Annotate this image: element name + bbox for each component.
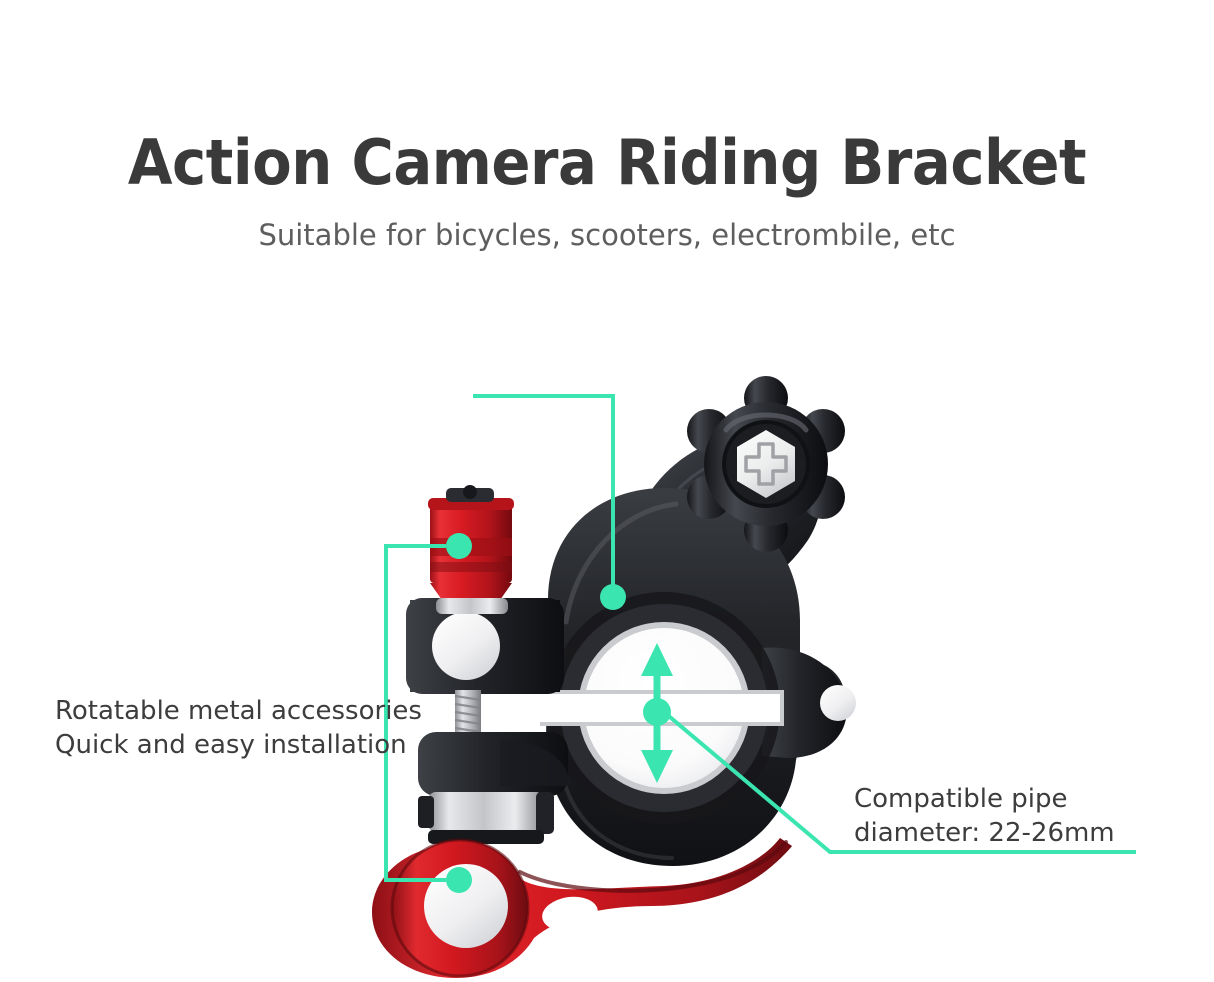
lever-pivot-disc xyxy=(424,864,508,948)
screw-shaft xyxy=(455,690,481,736)
callout-rotatable-line2: Quick and easy installation xyxy=(55,728,422,762)
quick-release-lever xyxy=(372,838,792,978)
callout-rotatable-line1: Rotatable metal accessories xyxy=(55,694,422,728)
red-knob xyxy=(428,485,514,614)
silver-disc xyxy=(432,612,500,680)
page-title: Action Camera Riding Bracket xyxy=(42,126,1171,199)
clamp-pivot-pin xyxy=(820,685,856,721)
callout-pipe-line2: diameter: 22-26mm xyxy=(854,816,1115,850)
callout-pipe-line1: Compatible pipe xyxy=(854,782,1115,816)
metal-ring xyxy=(418,792,554,844)
infographic-page: Action Camera Riding Bracket Suitable fo… xyxy=(0,0,1214,982)
callout-compatible-pipe-diameter: Compatible pipe diameter: 22-26mm xyxy=(854,782,1115,850)
callout-rotatable-metal-accessories: Rotatable metal accessories Quick and ea… xyxy=(55,694,422,762)
page-subtitle: Suitable for bicycles, scooters, electro… xyxy=(0,218,1214,252)
clamp-body xyxy=(540,488,856,866)
lower-block xyxy=(418,732,572,796)
